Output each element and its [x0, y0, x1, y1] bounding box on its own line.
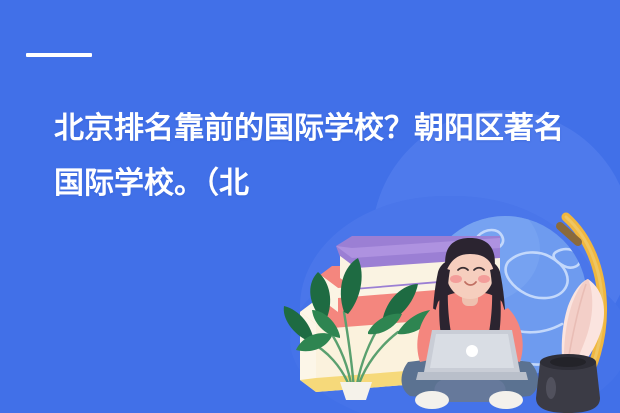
- article-cover-banner: 北京排名靠前的国际学校？朝阳区著名国际学校。（北: [0, 0, 620, 413]
- page-title: 北京排名靠前的国际学校？朝阳区著名国际学校。（北: [54, 101, 574, 211]
- accent-rule: [26, 53, 92, 57]
